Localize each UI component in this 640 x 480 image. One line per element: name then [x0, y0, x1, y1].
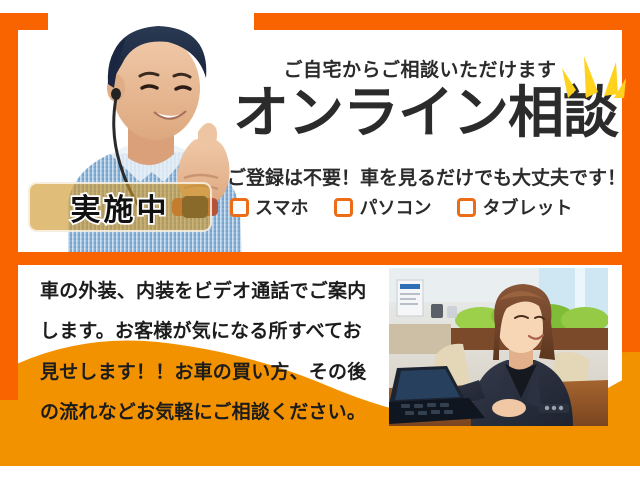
device-option-label: パソコン	[359, 194, 431, 220]
device-option-smartphone[interactable]: スマホ	[230, 194, 308, 220]
device-option-label: スマホ	[255, 194, 308, 220]
orange-divider-band	[0, 252, 640, 265]
subheadline-text: ご登録は不要！車を見るだけでも大丈夫です！	[227, 163, 607, 190]
device-option-pc[interactable]: パソコン	[334, 194, 431, 220]
checkbox-icon[interactable]	[230, 198, 249, 217]
female-staff-photo	[389, 268, 608, 426]
status-badge-label: 実施中	[71, 185, 170, 229]
device-option-label: タブレット	[482, 194, 572, 220]
device-option-tablet[interactable]: タブレット	[457, 194, 572, 220]
checkbox-icon[interactable]	[457, 198, 476, 217]
device-options-row: スマホ パソコン タブレット	[230, 194, 572, 220]
status-badge: 実施中	[28, 182, 212, 232]
checkbox-icon[interactable]	[334, 198, 353, 217]
page-title: オンライン相談	[233, 84, 613, 143]
body-copy-text: 車の外装、内装をビデオ通話でご案内します。お客様が気になる所すべてお見せします！…	[40, 272, 370, 433]
online-consultation-banner: 実施中 ご自宅からご相談いただけます オンライン相談 ご登録は不要！車を見るだけ…	[0, 0, 640, 480]
eyebrow-text: ご自宅からご相談いただけます	[270, 55, 570, 82]
sparkle-icon	[560, 52, 628, 104]
